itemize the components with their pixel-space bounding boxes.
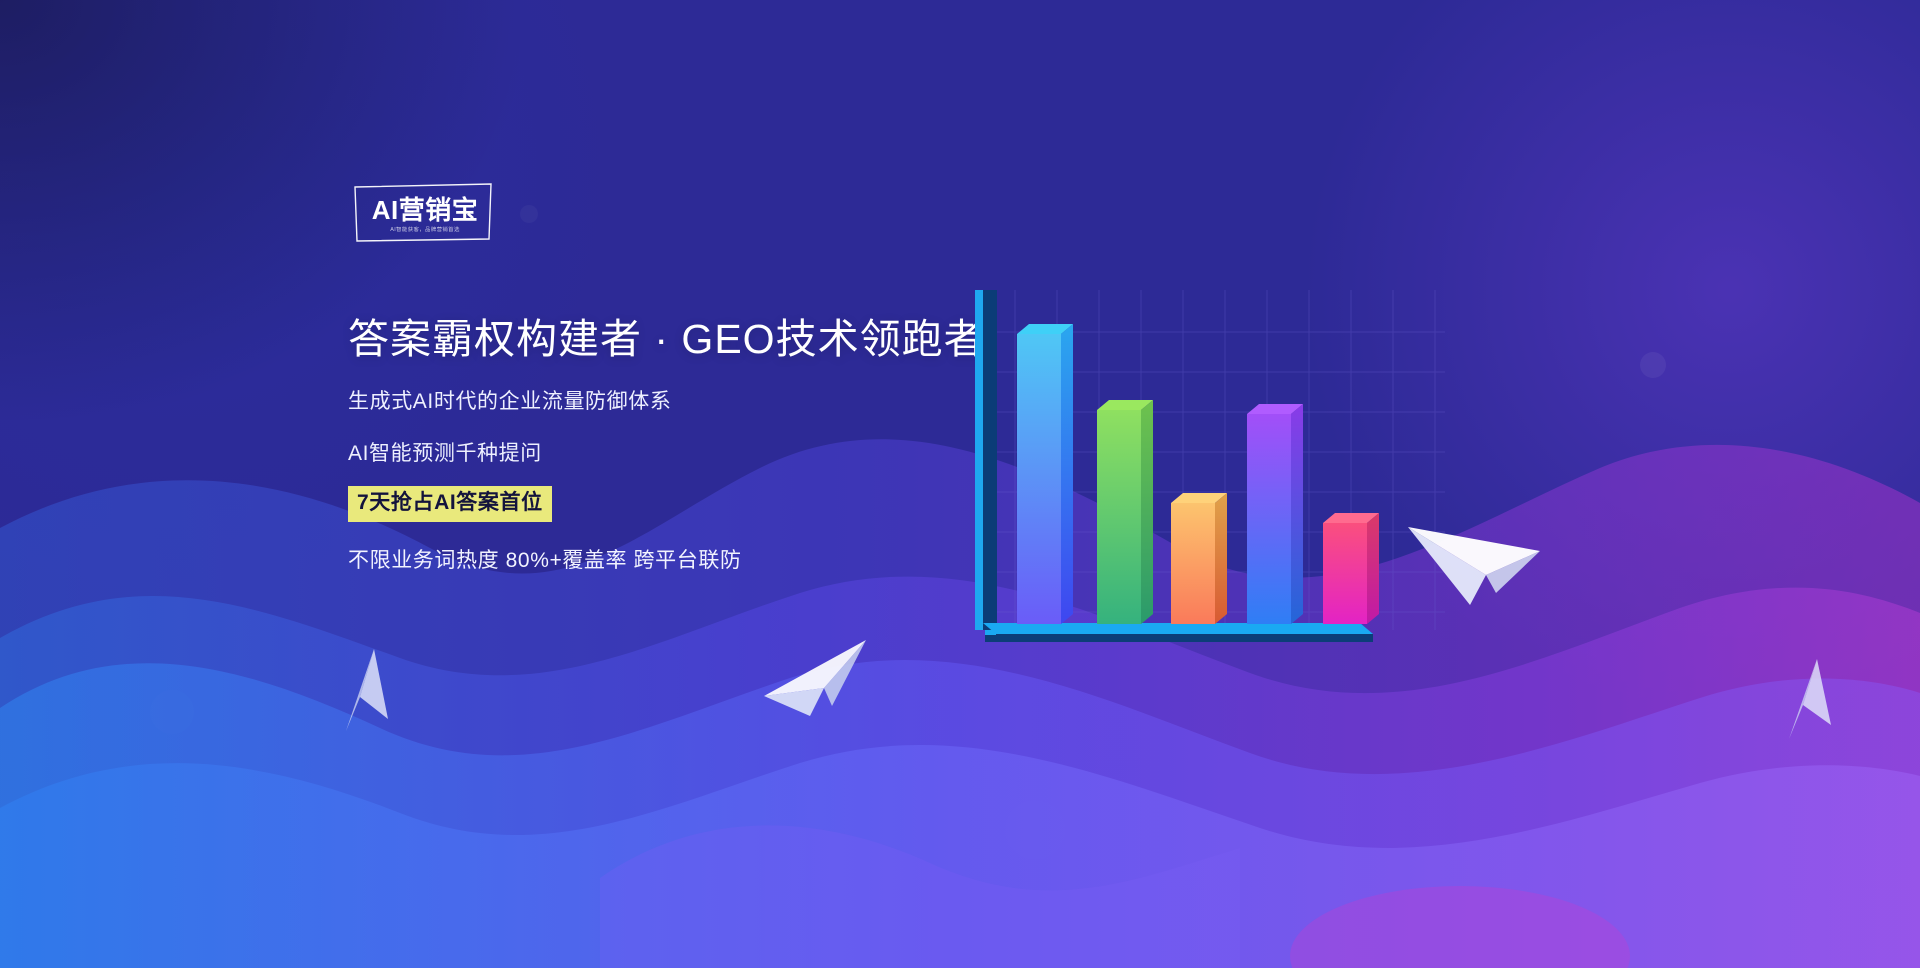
bar-chart-illustration [975, 290, 1445, 665]
brand-logo[interactable]: AI营销宝 AI智能获客，品牌营销首选 [353, 183, 493, 243]
hero-banner: AI营销宝 AI智能获客，品牌营销首选 答案霸权构建者 · GEO技术领跑者 生… [0, 0, 1920, 968]
brand-logo-tagline: AI智能获客，品牌营销首选 [364, 225, 486, 233]
brand-logo-text: AI营销宝 [367, 197, 483, 223]
paper-plane-icon-3 [1400, 505, 1545, 620]
paper-plane-icon-4 [1775, 655, 1837, 745]
hero-highlight-badge: 7天抢占AI答案首位 [348, 486, 552, 521]
chart-y-axis [975, 290, 997, 630]
chart-bar-4 [1247, 404, 1303, 624]
chart-bar-3 [1171, 493, 1227, 624]
paper-plane-icon-1 [330, 645, 394, 737]
chart-bar-1 [1017, 324, 1073, 624]
chart-floor [983, 623, 1373, 642]
chart-bar-2 [1097, 400, 1153, 624]
chart-bar-5 [1323, 513, 1379, 624]
paper-plane-icon-2 [758, 628, 878, 723]
